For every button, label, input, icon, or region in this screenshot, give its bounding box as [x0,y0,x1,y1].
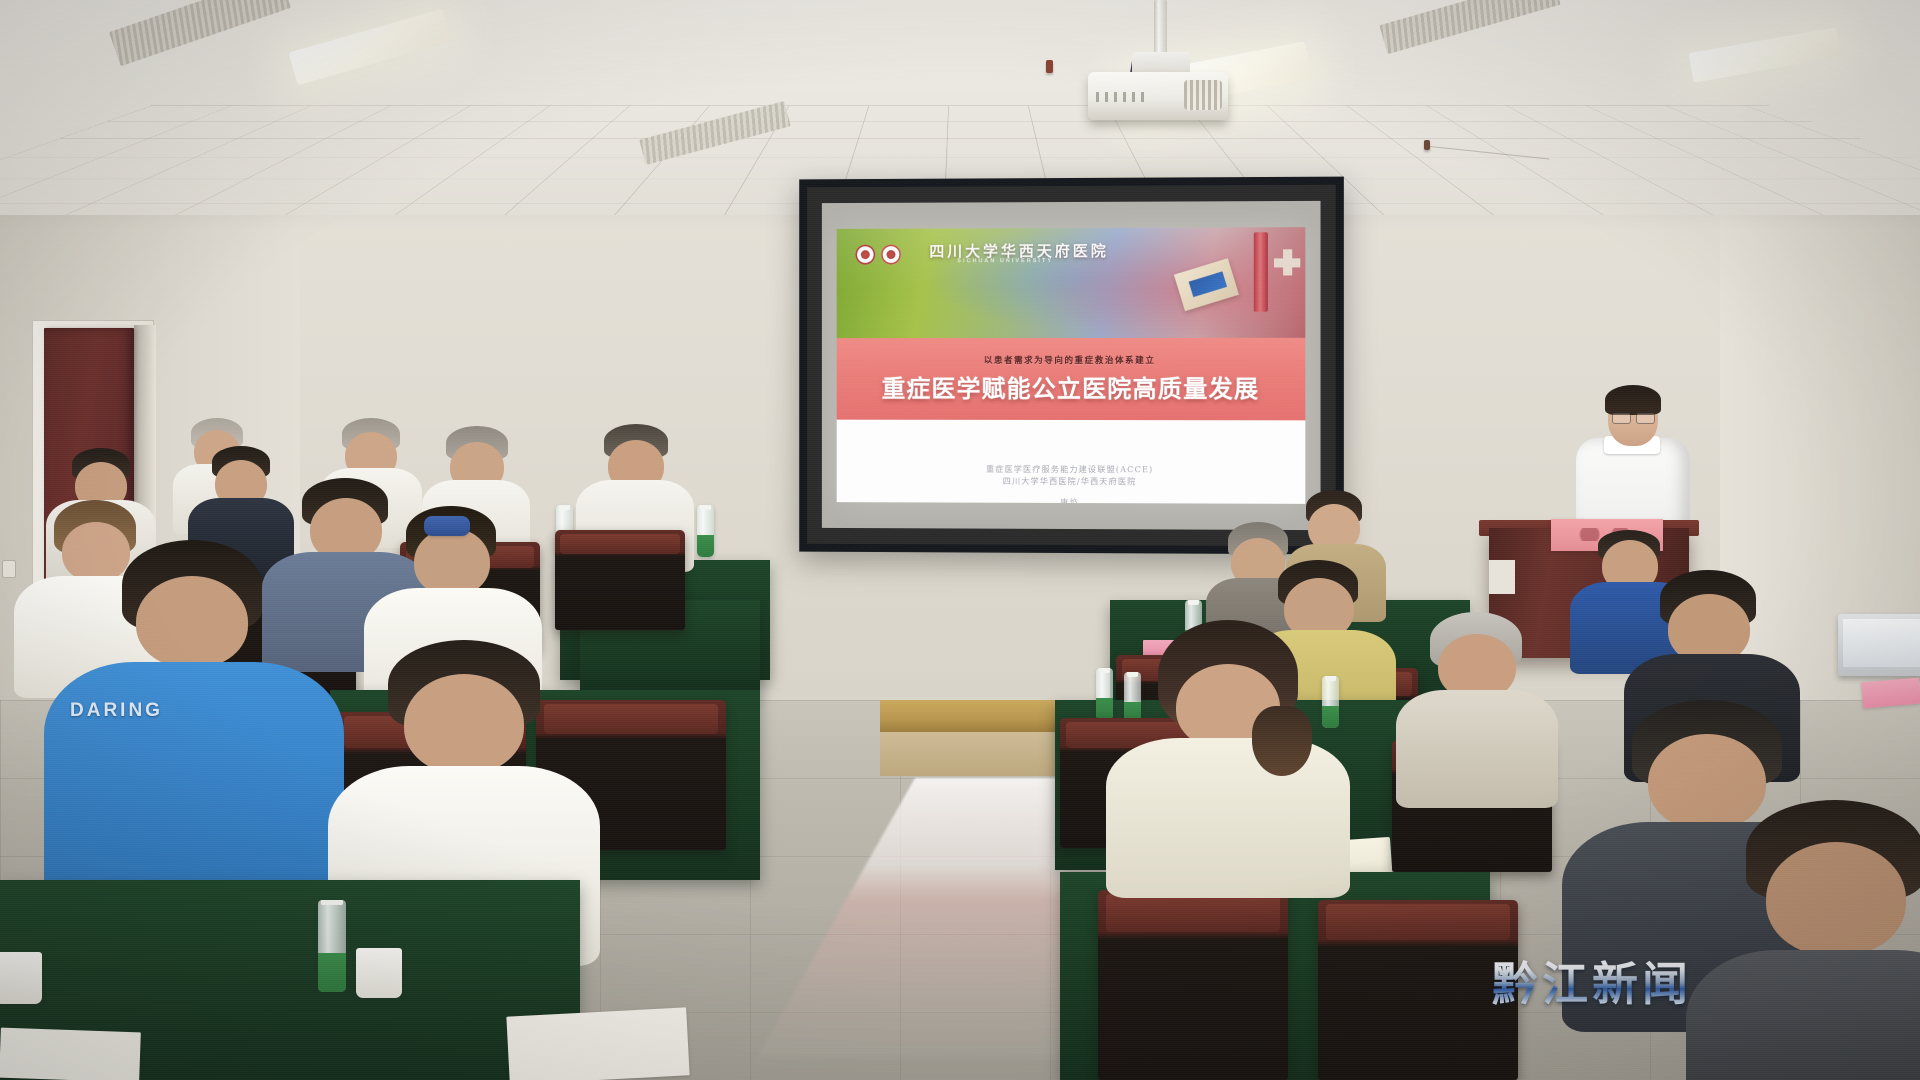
laptop[interactable] [1838,614,1920,676]
paper-cup[interactable] [356,948,402,998]
chair [1098,890,1288,1080]
water-bottle[interactable] [318,900,346,992]
head [1648,734,1766,830]
podium-notch [1489,560,1515,594]
projector-lens-icon [1184,80,1222,110]
slide-hero-banner: 四川大学华西天府医院 SICHUAN UNIVERSITY [837,227,1306,338]
speaker-hair [1605,385,1661,415]
wall-switch-plate[interactable] [2,560,16,578]
pink-folder[interactable] [1861,678,1920,709]
slide-title-band: 以患者需求为导向的重症救治体系建立 重症医学赋能公立医院高质量发展 [837,338,1306,421]
water-bottle[interactable] [1096,668,1113,720]
jersey-text: DARING [70,700,250,722]
hospital-logos [855,244,900,264]
medical-cross-icon [1274,249,1300,275]
hair [1252,706,1312,776]
torso [1686,950,1920,1080]
chair [1318,900,1518,1080]
water-bottle[interactable] [1322,676,1339,728]
hair-scrunchie [424,516,470,536]
water-bottle[interactable] [1124,672,1141,724]
hospital-logo-icon-2 [881,244,901,264]
slide-header-org-en: SICHUAN UNIVERSITY [957,258,1053,264]
head [62,522,130,582]
screen-bezel: 四川大学华西天府医院 SICHUAN UNIVERSITY 以患者需求为导向的重… [807,185,1336,547]
chair [555,530,685,630]
slide-presenter-name: 康焰 [1060,497,1079,504]
projection-screen: 四川大学华西天府医院 SICHUAN UNIVERSITY 以患者需求为导向的重… [799,177,1344,555]
ceiling-projector [1088,72,1228,120]
projector-pole [1154,0,1167,60]
document-sheet[interactable] [506,1007,689,1080]
speaker-glasses-icon [1612,413,1655,422]
hospital-logo-icon-1 [855,244,875,264]
paper-cup[interactable] [0,952,42,1004]
water-bottle[interactable] [697,505,714,557]
torso [44,662,344,900]
sprinkler-head-1 [1046,60,1053,73]
torso [1396,690,1558,808]
head [1766,842,1906,956]
slide-footer-line-1: 重症医学医疗服务能力建设联盟(ACCE) [986,462,1153,475]
broadcast-watermark: 黔江新闻 [1492,948,1692,1014]
slide-subtitle: 以患者需求为导向的重症救治体系建立 [984,354,1156,366]
screen-surface: 四川大学华西天府医院 SICHUAN UNIVERSITY 以患者需求为导向的重… [822,201,1321,530]
head [136,576,248,668]
eyeglasses[interactable] [30,1008,92,1028]
projector-buttons [1096,92,1144,102]
document-sheet[interactable] [0,1028,141,1080]
slide-footer-line-2: 四川大学华西医院/华西天府医院 [1003,475,1137,488]
head [414,528,490,596]
scroll-graphic [1253,232,1267,312]
presentation-slide: 四川大学华西天府医院 SICHUAN UNIVERSITY 以患者需求为导向的重… [837,227,1306,503]
slide-footer: 重症医学医疗服务能力建设联盟(ACCE) 四川大学华西医院/华西天府医院 康焰 [837,420,1306,504]
screenshot-root: 四川大学华西天府医院 SICHUAN UNIVERSITY 以患者需求为导向的重… [0,0,1920,1080]
slide-main-title: 重症医学赋能公立医院高质量发展 [882,369,1260,404]
torso [1106,738,1350,898]
head [404,674,524,774]
